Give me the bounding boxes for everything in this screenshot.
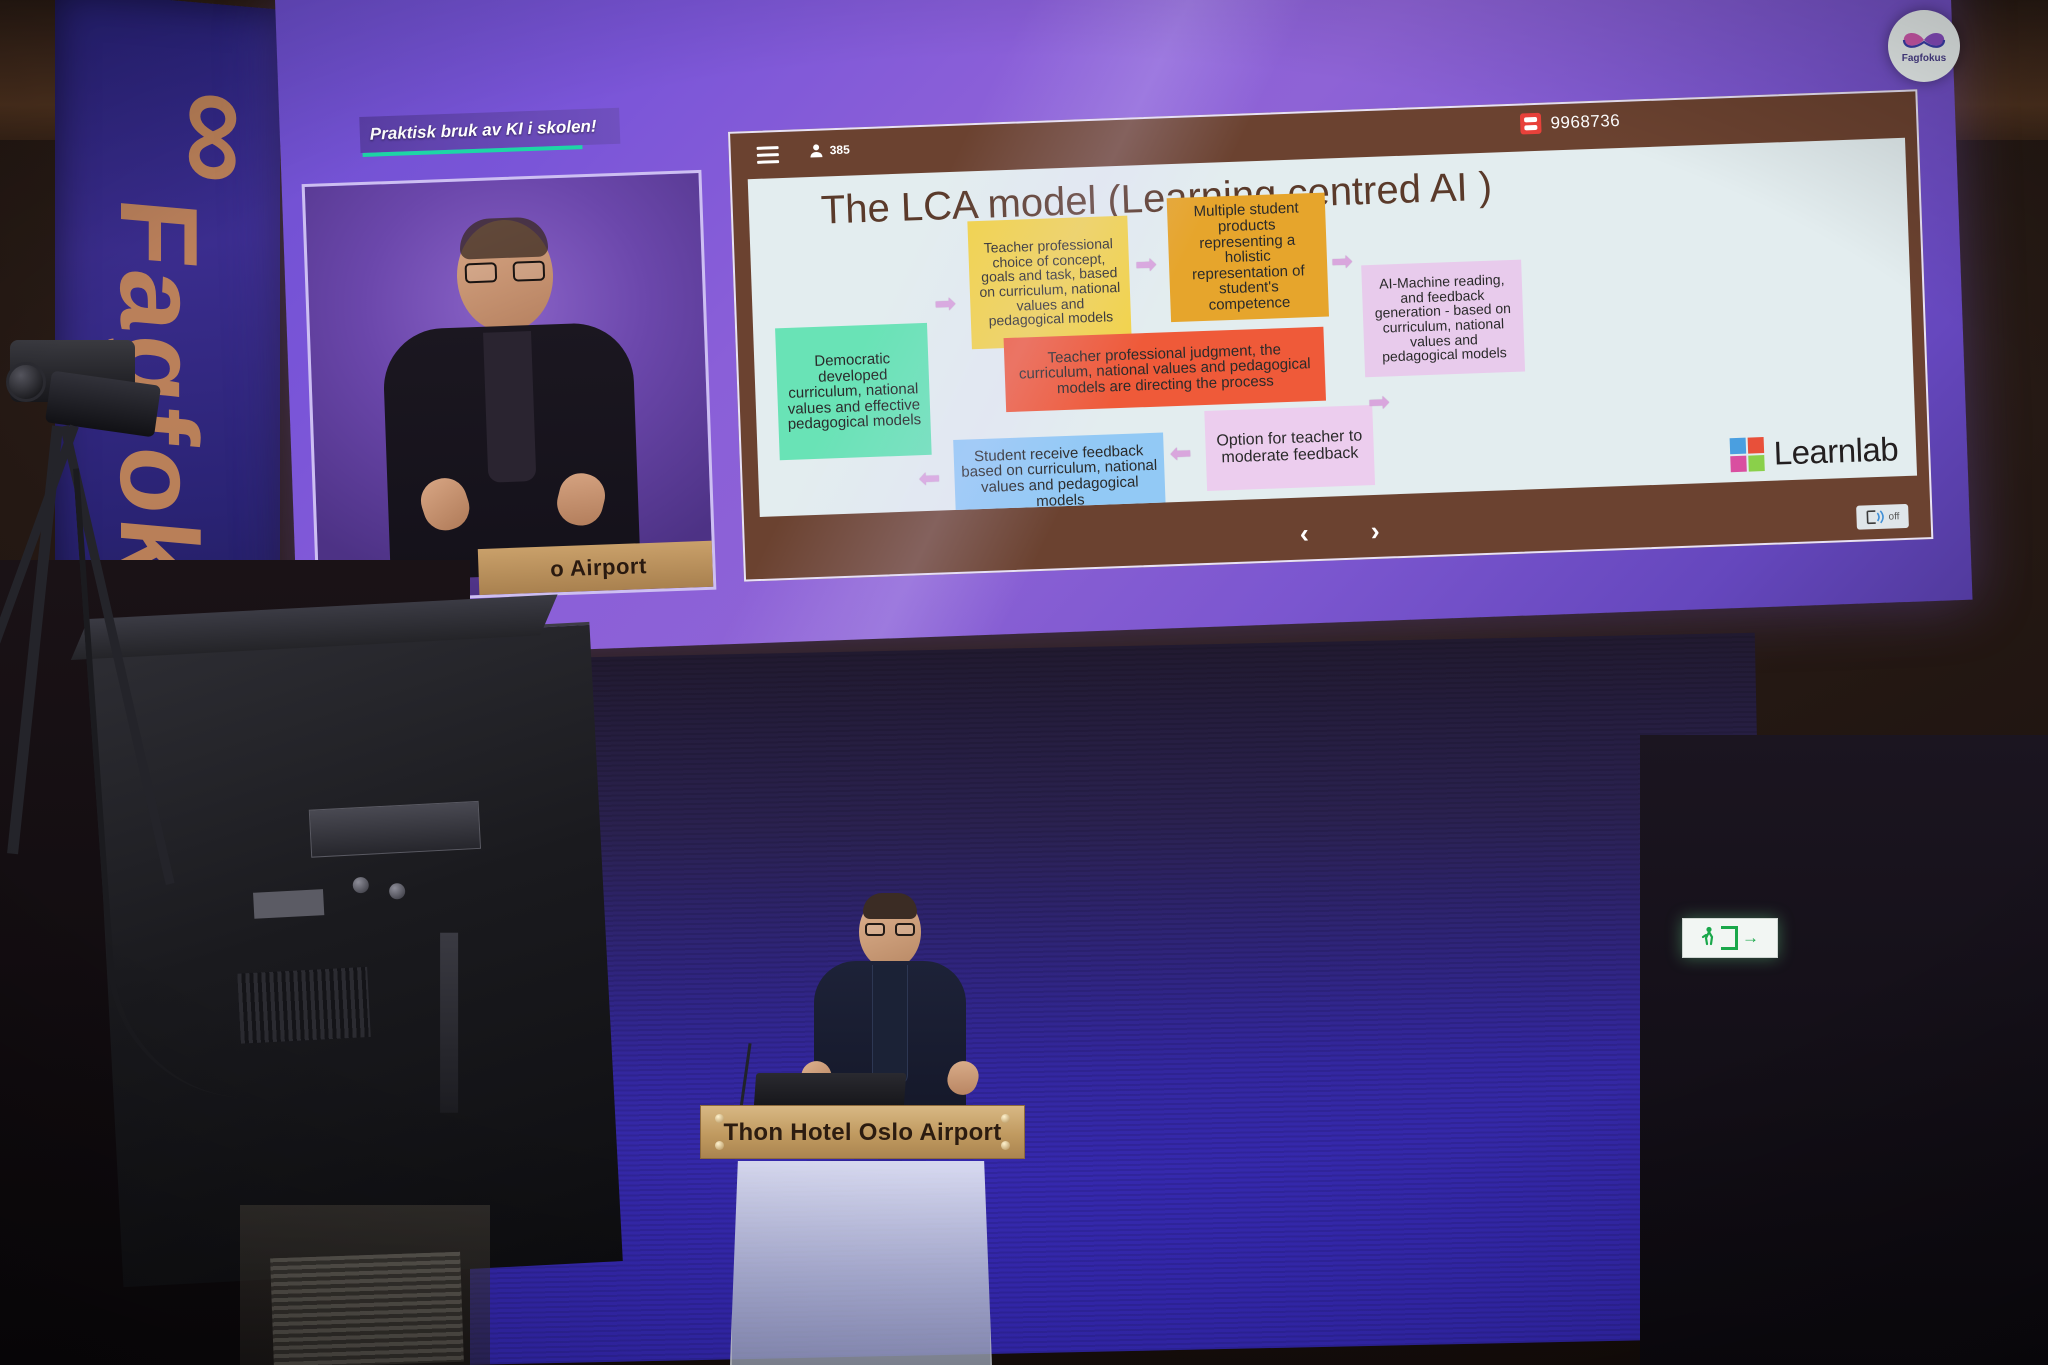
arrow-lavender-to-pink-icon: ➡ bbox=[1368, 388, 1391, 415]
lectern: Thon Hotel Oslo Airport bbox=[700, 1105, 1025, 1365]
session-code-badge: 9968736 bbox=[1520, 110, 1620, 135]
arrow-green-to-yellow-icon: ➡ bbox=[934, 290, 957, 317]
fagfokus-logo: Fagfokus bbox=[1888, 10, 1960, 82]
arrow-blue-to-green-icon: ⬅ bbox=[918, 465, 941, 492]
exit-sign: → bbox=[1682, 918, 1778, 958]
fagfokus-logo-text: Fagfokus bbox=[1902, 53, 1946, 64]
learnlab-logo-squares-icon bbox=[1729, 437, 1764, 472]
lectern-laptop bbox=[754, 1073, 906, 1107]
speaker-shirt bbox=[872, 965, 908, 1085]
lectern-screw bbox=[715, 1114, 724, 1123]
camera-speaker-head bbox=[455, 218, 555, 333]
participants-count: 385 bbox=[829, 143, 850, 158]
camera-podium-sign-text: o Airport bbox=[478, 541, 717, 596]
learnlab-logo: Learnlab bbox=[1729, 430, 1899, 474]
lectern-screw bbox=[1001, 1114, 1010, 1123]
lectern-sign-plate: Thon Hotel Oslo Airport bbox=[700, 1105, 1025, 1159]
session-code-value: 9968736 bbox=[1550, 110, 1620, 132]
camera-speaker-glasses-icon bbox=[465, 261, 546, 284]
audio-toggle-button[interactable]: off bbox=[1856, 504, 1909, 530]
node-student-products: Multiple student products representing a… bbox=[1167, 193, 1329, 323]
node-teacher-choice: Teacher professional choice of concept, … bbox=[967, 216, 1131, 350]
camera-speaker-right-hand bbox=[552, 469, 609, 531]
slide-next-button[interactable]: › bbox=[1370, 515, 1380, 546]
hamburger-menu-icon[interactable] bbox=[757, 146, 780, 164]
participants-counter: 385 bbox=[808, 142, 850, 159]
person-icon bbox=[808, 142, 824, 159]
session-code-icon bbox=[1520, 113, 1542, 135]
slide-title: The LCA model (Learning centred AI ) bbox=[820, 165, 1493, 234]
lectern-screw bbox=[1001, 1141, 1010, 1150]
exit-door-icon bbox=[1721, 926, 1738, 950]
exit-arrow-icon: → bbox=[1742, 928, 1759, 948]
camera-cable bbox=[73, 453, 347, 1107]
node-democratic: Democratic developed curriculum, nationa… bbox=[775, 323, 932, 460]
node-student-feedback: Student receive feedback based on curric… bbox=[953, 433, 1166, 517]
learnlab-slide-panel: 385 9968736 The LCA model (Learning cent… bbox=[728, 89, 1933, 581]
node-moderate-feedback: Option for teacher to moderate feedback bbox=[1204, 405, 1375, 491]
projection-screen: Praktisk bruk av KI i skolen! o Airport bbox=[275, 0, 1974, 690]
audio-toggle-label: off bbox=[1888, 511, 1899, 522]
floor-vent-grille bbox=[270, 1252, 464, 1365]
stage-back-wall bbox=[455, 633, 1769, 1365]
lectern-screw bbox=[715, 1141, 724, 1150]
arrow-yellow-to-orange-icon: ➡ bbox=[1135, 251, 1158, 278]
node-teacher-judgment: Teacher professional judgment, the curri… bbox=[1004, 327, 1326, 412]
audio-off-icon bbox=[1865, 509, 1886, 526]
running-man-icon bbox=[1701, 926, 1717, 950]
speaker-head bbox=[859, 895, 921, 969]
podium-sign-text: Thon Hotel Oslo Airport bbox=[701, 1106, 1024, 1160]
slide-prev-button[interactable]: ‹ bbox=[1299, 518, 1309, 549]
butterfly-mask-icon bbox=[1901, 29, 1947, 51]
speaker-glasses-icon bbox=[865, 923, 915, 936]
camera-podium-sign: o Airport bbox=[478, 541, 717, 596]
speaker-hair bbox=[863, 893, 917, 919]
learnlab-logo-text: Learnlab bbox=[1773, 430, 1899, 472]
banner-infinity-icon: ∞ bbox=[140, 27, 260, 187]
camera-speaker-hair bbox=[459, 216, 548, 259]
arrow-pink-to-blue-icon: ⬅ bbox=[1169, 440, 1192, 467]
slide-canvas: The LCA model (Learning centred AI ) Dem… bbox=[748, 138, 1917, 517]
lectern-body bbox=[730, 1161, 992, 1365]
camera-lens-icon bbox=[6, 362, 46, 402]
camera-speaker-shirt bbox=[483, 331, 536, 483]
speaker-right-hand bbox=[943, 1057, 982, 1099]
arrow-orange-to-lavender-icon: ➡ bbox=[1331, 248, 1354, 275]
right-dark-wall bbox=[1640, 735, 2048, 1365]
node-ai-machine: AI-Machine reading, and feedback generat… bbox=[1361, 260, 1525, 378]
